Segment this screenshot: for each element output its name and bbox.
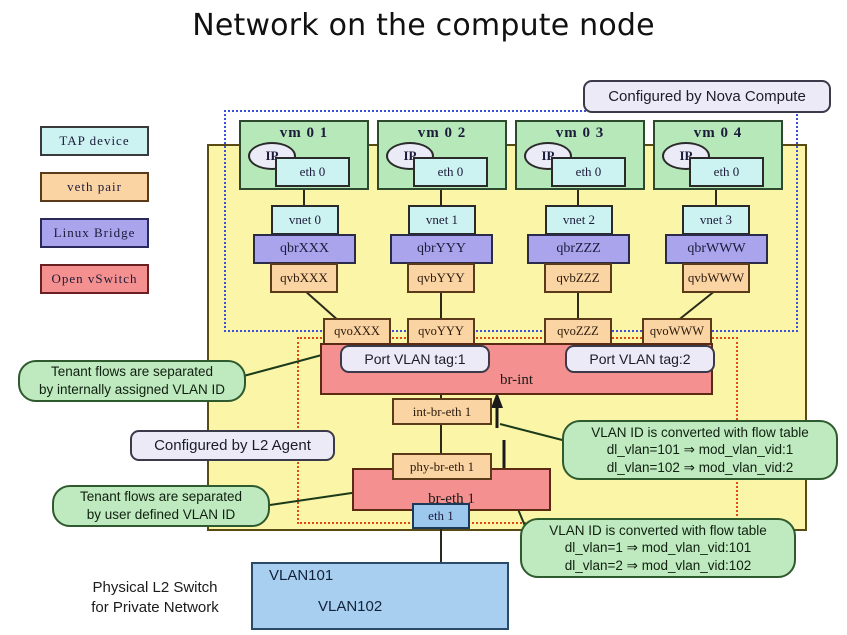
qvo-box-2: qvoYYY [407, 318, 475, 345]
vlan102-label: VLAN102 [318, 598, 382, 615]
tenant-internal-vlan-note: Tenant flows are separated by internally… [18, 360, 246, 402]
phy-br-eth1-box: phy-br-eth 1 [392, 453, 492, 480]
eth1-box: eth 1 [412, 503, 470, 529]
diagram-canvas: Network on the compute node TAP device v… [0, 0, 847, 635]
switch-caption-line-2: for Private Network [70, 598, 240, 618]
note-line-2: dl_vlan=101 ⇒ mod_vlan_vid:1 [607, 441, 794, 459]
qvo-box-3: qvoZZZ [544, 318, 612, 345]
qvb-box-3: qvbZZZ [544, 263, 612, 293]
eth0-box-4: eth 0 [689, 157, 764, 187]
tenant-user-vlan-note: Tenant flows are separated by user defin… [52, 485, 270, 527]
vm-title: vm 0 4 [655, 125, 781, 142]
br-int-label: br-int [322, 372, 711, 389]
qvb-box-4: qvbWWW [682, 263, 750, 293]
vnet-box-4: vnet 3 [682, 205, 750, 235]
vm-title: vm 0 2 [379, 125, 505, 142]
vm-title: vm 0 1 [241, 125, 367, 142]
vlan101-label: VLAN101 [269, 567, 333, 584]
vnet-box-1: vnet 0 [271, 205, 339, 235]
qvb-box-1: qvbXXX [270, 263, 338, 293]
note-line-1: Tenant flows are separated [51, 363, 213, 381]
page-title: Network on the compute node [0, 8, 847, 43]
vlan-in-conversion-note: VLAN ID is converted with flow table dl_… [562, 420, 838, 480]
legend: TAP device veth pair Linux Bridge Open v… [40, 126, 149, 294]
qvo-box-4: qvoWWW [642, 318, 712, 345]
legend-item-linux-bridge: Linux Bridge [40, 218, 149, 248]
l2-agent-note: Configured by L2 Agent [130, 430, 335, 461]
qbr-box-3: qbrZZZ [527, 234, 630, 264]
qbr-box-2: qbrYYY [390, 234, 493, 264]
legend-item-tap-device: TAP device [40, 126, 149, 156]
vnet-box-3: vnet 2 [545, 205, 613, 235]
note-line-2: by user defined VLAN ID [87, 506, 236, 524]
nova-compute-note: Configured by Nova Compute [583, 80, 831, 113]
legend-item-open-vswitch: Open vSwitch [40, 264, 149, 294]
vm-title: vm 0 3 [517, 125, 643, 142]
qvo-box-1: qvoXXX [323, 318, 391, 345]
qbr-box-4: qbrWWW [665, 234, 768, 264]
eth0-box-2: eth 0 [413, 157, 488, 187]
qbr-box-1: qbrXXX [253, 234, 356, 264]
eth0-box-3: eth 0 [551, 157, 626, 187]
note-line-3: dl_vlan=2 ⇒ mod_vlan_vid:102 [565, 557, 752, 575]
note-line-1: VLAN ID is converted with flow table [591, 424, 809, 442]
note-line-2: dl_vlan=1 ⇒ mod_vlan_vid:101 [565, 539, 752, 557]
vnet-box-2: vnet 1 [408, 205, 476, 235]
int-br-eth1-box: int-br-eth 1 [392, 398, 492, 425]
qvb-box-2: qvbYYY [407, 263, 475, 293]
switch-caption-line-1: Physical L2 Switch [70, 578, 240, 598]
note-line-1: VLAN ID is converted with flow table [549, 522, 767, 540]
note-line-2: by internally assigned VLAN ID [39, 381, 225, 399]
switch-caption: Physical L2 Switch for Private Network [70, 578, 240, 619]
note-line-3: dl_vlan=102 ⇒ mod_vlan_vid:2 [607, 459, 794, 477]
port-vlan-tag-2-note: Port VLAN tag:2 [565, 345, 715, 373]
note-line-1: Tenant flows are separated [80, 488, 242, 506]
vlan-out-conversion-note: VLAN ID is converted with flow table dl_… [520, 518, 796, 578]
legend-item-veth-pair: veth pair [40, 172, 149, 202]
eth0-box-1: eth 0 [275, 157, 350, 187]
port-vlan-tag-1-note: Port VLAN tag:1 [340, 345, 490, 373]
